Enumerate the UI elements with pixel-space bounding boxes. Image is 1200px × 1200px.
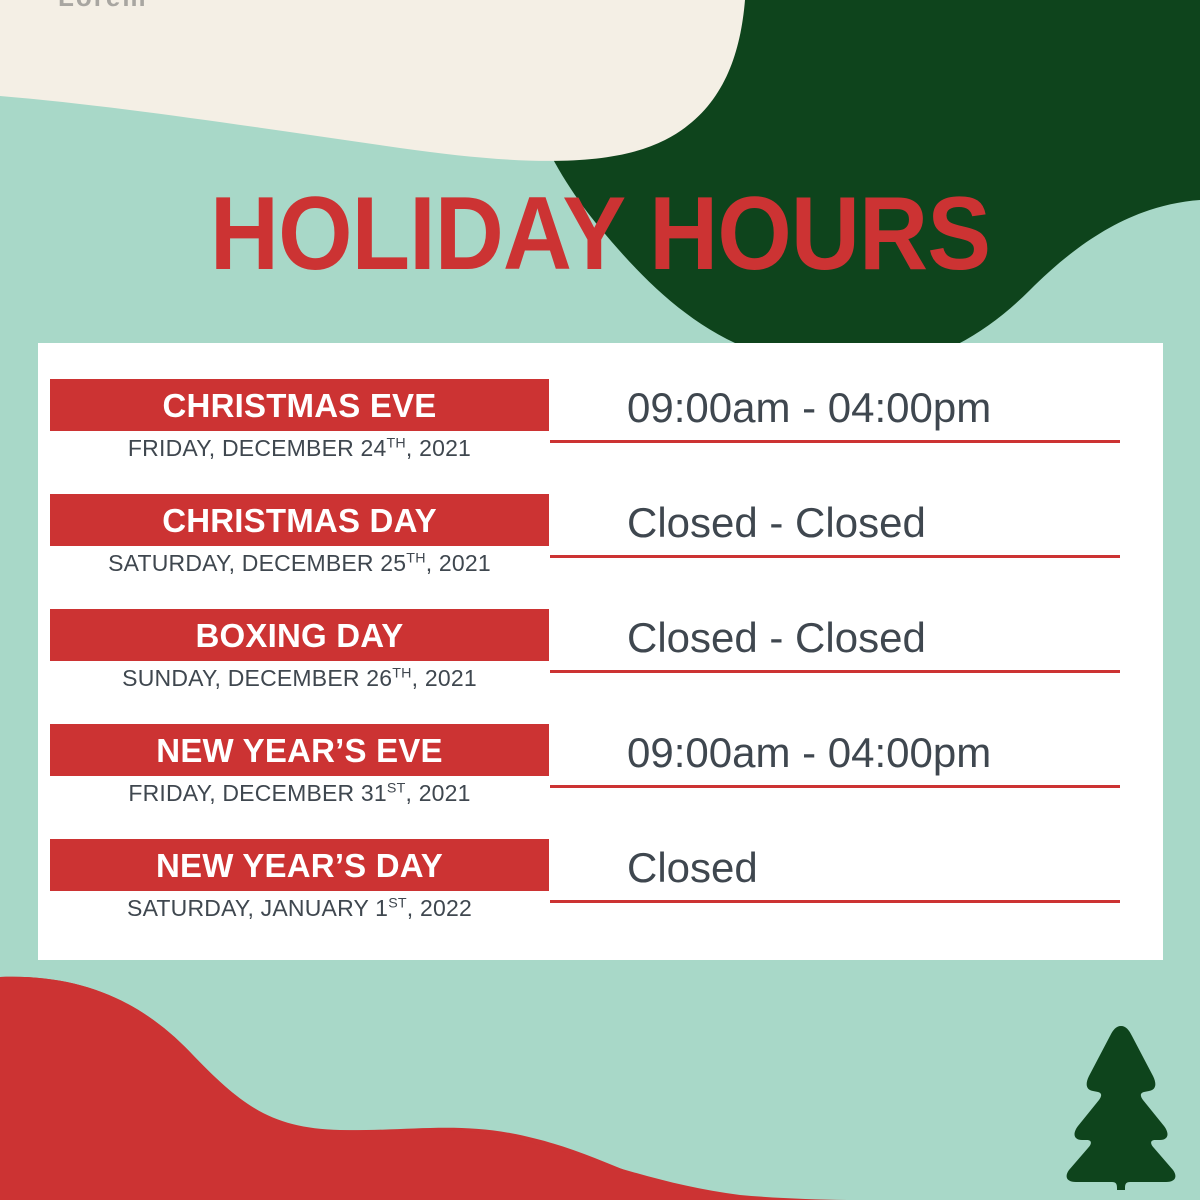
- top-cropped-text-strip: Lorem: [0, 0, 1200, 14]
- holiday-hours-cell: Closed - Closed: [550, 494, 1120, 556]
- hours-underline: [550, 785, 1120, 788]
- holiday-name-label: CHRISTMAS DAY: [162, 504, 437, 537]
- schedule-card: CHRISTMAS EVE FRIDAY, DECEMBER 24TH, 202…: [38, 343, 1163, 960]
- red-wave-fill-lower: [0, 977, 960, 1200]
- cream-blob-shape: [0, 0, 745, 161]
- schedule-rows: CHRISTMAS EVE FRIDAY, DECEMBER 24TH, 202…: [38, 343, 1163, 960]
- holiday-date-prefix: FRIDAY, DECEMBER 24: [128, 435, 387, 461]
- holiday-hours-cell: 09:00am - 04:00pm: [550, 724, 1120, 786]
- holiday-date-label: SUNDAY, DECEMBER 26TH, 2021: [50, 665, 549, 692]
- holiday-hours-value: Closed - Closed: [627, 494, 926, 552]
- holiday-date-ordinal: TH: [392, 665, 411, 681]
- holiday-name-bar: BOXING DAY: [50, 609, 549, 661]
- holiday-hours-value: 09:00am - 04:00pm: [627, 724, 991, 782]
- holiday-date-label: SATURDAY, DECEMBER 25TH, 2021: [50, 550, 549, 577]
- page-title: HOLIDAY HOURS: [48, 182, 1152, 286]
- holiday-date-ordinal: ST: [387, 780, 406, 796]
- table-row: NEW YEAR’S EVE FRIDAY, DECEMBER 31ST, 20…: [38, 724, 1163, 839]
- table-row: NEW YEAR’S DAY SATURDAY, JANUARY 1ST, 20…: [38, 839, 1163, 954]
- holiday-hours-poster: Lorem HOLIDAY HOURS CHRISTMAS EVE FRIDAY…: [0, 0, 1200, 1200]
- table-row: BOXING DAY SUNDAY, DECEMBER 26TH, 2021 C…: [38, 609, 1163, 724]
- holiday-date-suffix: , 2021: [412, 665, 477, 691]
- hours-underline: [550, 670, 1120, 673]
- hours-underline: [550, 440, 1120, 443]
- holiday-date-prefix: SATURDAY, DECEMBER 25: [108, 550, 406, 576]
- table-row: CHRISTMAS EVE FRIDAY, DECEMBER 24TH, 202…: [38, 379, 1163, 494]
- holiday-date-prefix: SUNDAY, DECEMBER 26: [122, 665, 392, 691]
- holiday-date-label: FRIDAY, DECEMBER 31ST, 2021: [50, 780, 549, 807]
- holiday-name-label: CHRISTMAS EVE: [163, 389, 437, 422]
- holiday-name-bar: CHRISTMAS EVE: [50, 379, 549, 431]
- top-cropped-text: Lorem: [58, 0, 147, 13]
- holiday-hours-cell: 09:00am - 04:00pm: [550, 379, 1120, 441]
- holiday-date-label: SATURDAY, JANUARY 1ST, 2022: [50, 895, 549, 922]
- holiday-name-bar: NEW YEAR’S DAY: [50, 839, 549, 891]
- holiday-date-ordinal: ST: [388, 895, 407, 911]
- hours-underline: [550, 900, 1120, 903]
- holiday-name-label: NEW YEAR’S DAY: [156, 849, 443, 882]
- holiday-name-bar: NEW YEAR’S EVE: [50, 724, 549, 776]
- holiday-hours-value: Closed: [627, 839, 758, 897]
- red-wave-shape: [0, 977, 830, 1200]
- christmas-tree-icon: [1058, 1020, 1184, 1190]
- holiday-hours-value: Closed - Closed: [627, 609, 926, 667]
- holiday-date-prefix: SATURDAY, JANUARY 1: [127, 895, 388, 921]
- holiday-hours-cell: Closed: [550, 839, 1120, 901]
- holiday-date-label: FRIDAY, DECEMBER 24TH, 2021: [50, 435, 549, 462]
- holiday-date-suffix: , 2022: [407, 895, 472, 921]
- holiday-name-label: NEW YEAR’S EVE: [156, 734, 442, 767]
- holiday-date-ordinal: TH: [406, 550, 425, 566]
- holiday-hours-cell: Closed - Closed: [550, 609, 1120, 671]
- hours-underline: [550, 555, 1120, 558]
- holiday-date-suffix: , 2021: [426, 550, 491, 576]
- holiday-hours-value: 09:00am - 04:00pm: [627, 379, 991, 437]
- holiday-name-bar: CHRISTMAS DAY: [50, 494, 549, 546]
- holiday-date-suffix: , 2021: [406, 435, 471, 461]
- holiday-name-label: BOXING DAY: [196, 619, 404, 652]
- holiday-date-prefix: FRIDAY, DECEMBER 31: [128, 780, 387, 806]
- table-row: CHRISTMAS DAY SATURDAY, DECEMBER 25TH, 2…: [38, 494, 1163, 609]
- holiday-date-ordinal: TH: [387, 435, 406, 451]
- holiday-date-suffix: , 2021: [406, 780, 471, 806]
